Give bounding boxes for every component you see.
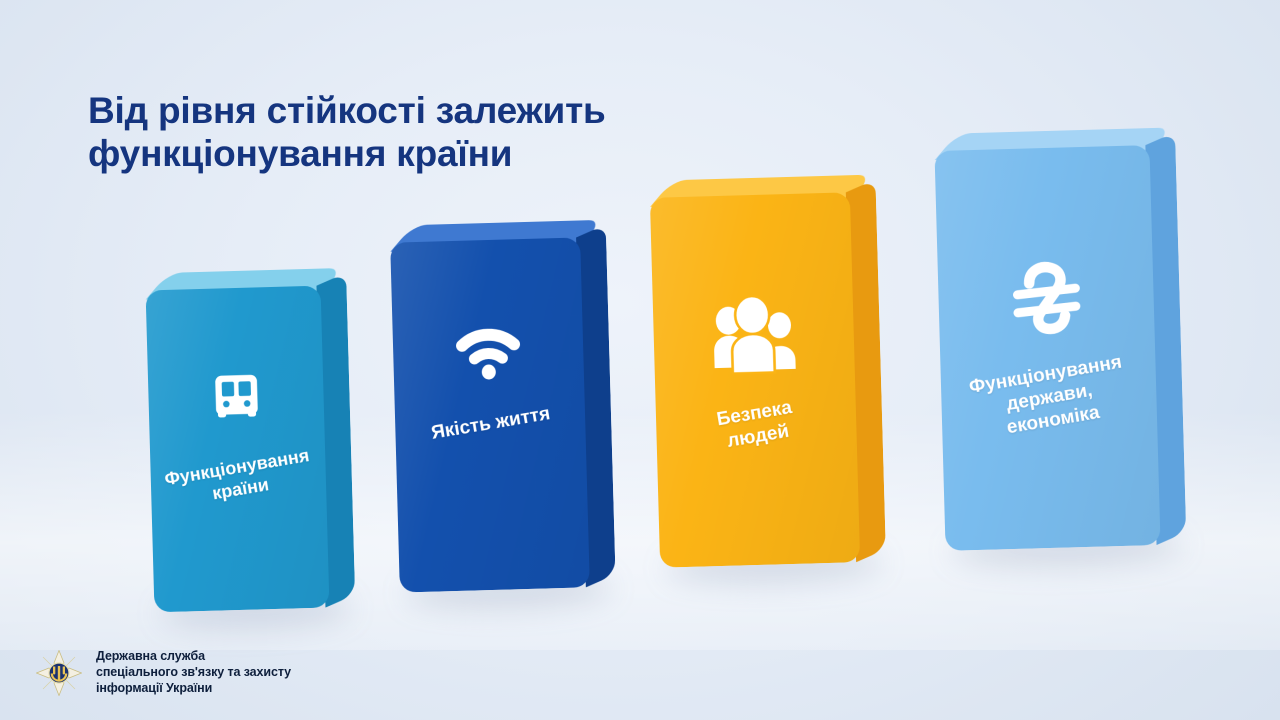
wifi-icon: [454, 324, 524, 387]
card-state-economy[interactable]: Функціонування держави, економіка: [934, 145, 1160, 551]
card-body: Функціонування країни: [146, 286, 330, 613]
card-country-functioning[interactable]: Функціонування країни: [146, 286, 330, 613]
slide-root: Від рівня стійкості залежить функціонува…: [0, 0, 1280, 720]
page-title: Від рівня стійкості залежить функціонува…: [88, 89, 808, 176]
card-content: Безпека людей: [650, 192, 860, 567]
card-label: Якість життя: [402, 398, 578, 450]
card-quality-of-life[interactable]: Якість життя: [390, 237, 590, 592]
card-body: Функціонування держави, економіка: [934, 145, 1160, 551]
card-body: Безпека людей: [650, 192, 860, 567]
dsszzi-emblem: [34, 648, 84, 698]
card-label: Функціонування держави, економіка: [944, 347, 1153, 449]
bus-icon: [206, 367, 266, 432]
card-content: Функціонування держави, економіка: [934, 145, 1160, 551]
card-content: Функціонування країни: [146, 286, 330, 613]
organization-name: Державна служба спеціального зв'язку та …: [96, 649, 291, 696]
card-label: Безпека людей: [664, 387, 849, 463]
footer-branding: Державна служба спеціального зв'язку та …: [34, 648, 291, 698]
people-group-icon: [707, 294, 801, 382]
hryvnia-icon: [1008, 257, 1084, 346]
card-label: Функціонування країни: [156, 444, 321, 514]
card-people-safety[interactable]: Безпека людей: [650, 192, 860, 567]
card-body: Якість життя: [390, 237, 590, 592]
card-content: Якість життя: [390, 237, 590, 592]
